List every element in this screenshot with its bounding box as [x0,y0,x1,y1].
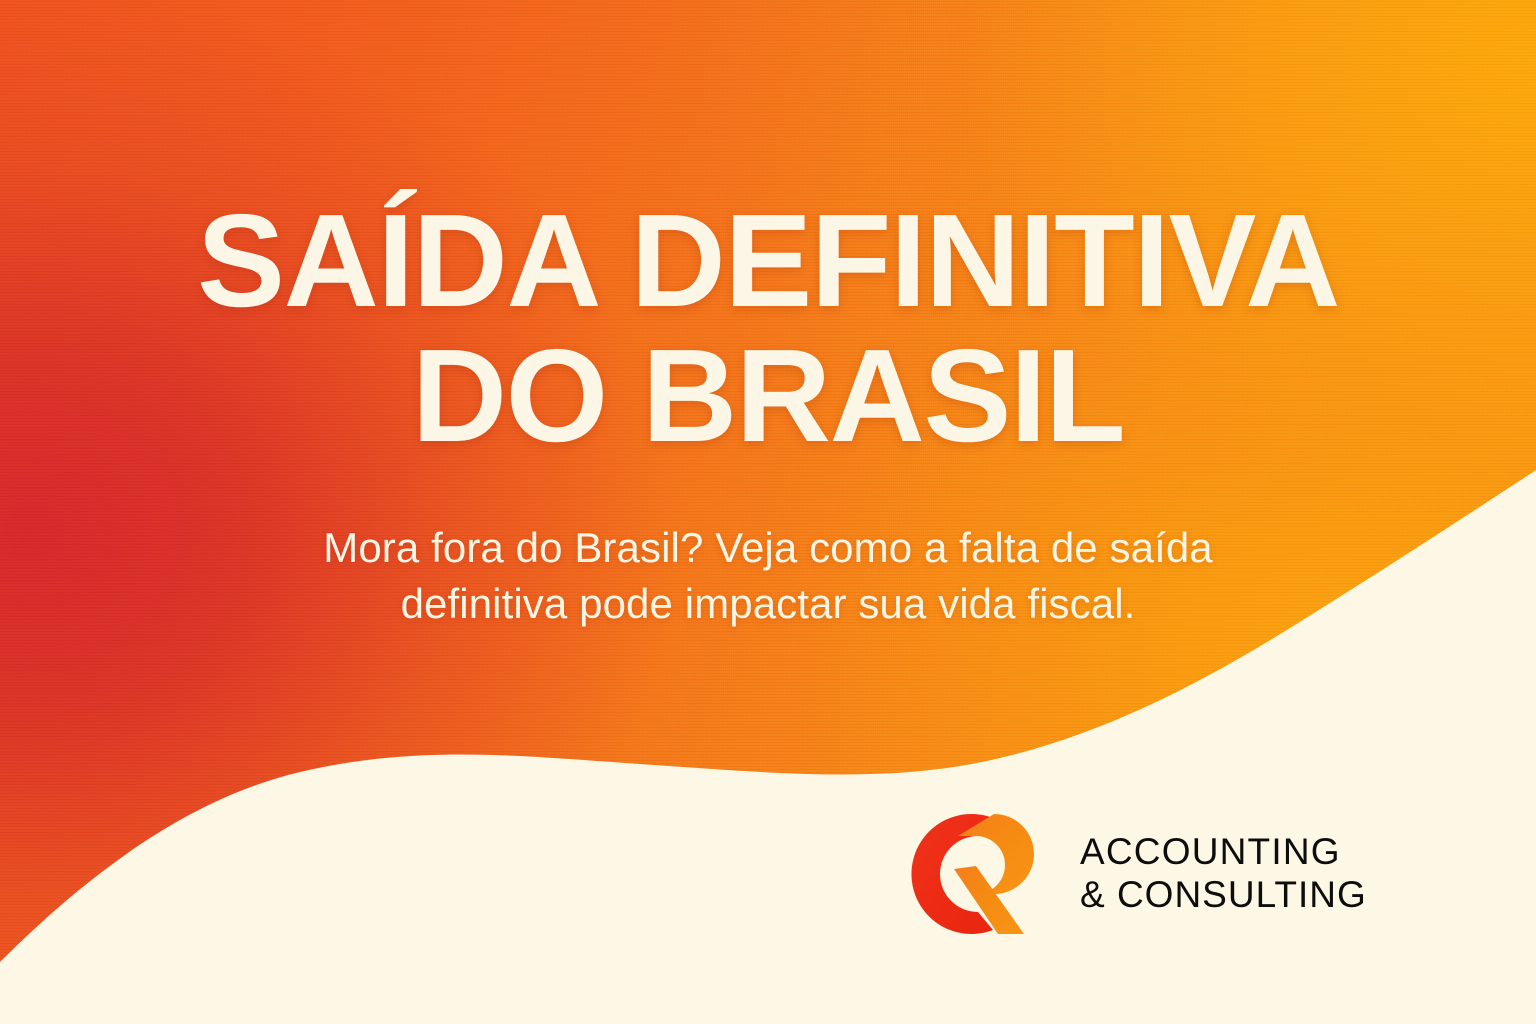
subtitle-line-1: Mora fora do Brasil? Veja como a falta d… [0,520,1536,576]
company-logo: ACCOUNTING & CONSULTING [898,806,1408,942]
cr-monogram-icon [898,806,1074,942]
wordmark-line-2: & CONSULTING [1080,874,1367,917]
wordmark-line-1: ACCOUNTING [1080,831,1367,874]
subtitle-line-2: definitiva pode impactar sua vida fiscal… [0,576,1536,632]
headline: SAÍDA DEFINITIVA DO BRASIL [0,196,1536,461]
logo-wordmark: ACCOUNTING & CONSULTING [1080,831,1367,917]
headline-line-2: DO BRASIL [0,331,1536,460]
promotional-banner: SAÍDA DEFINITIVA DO BRASIL Mora fora do … [0,0,1536,1024]
subtitle: Mora fora do Brasil? Veja como a falta d… [0,520,1536,632]
headline-line-1: SAÍDA DEFINITIVA [0,196,1536,325]
